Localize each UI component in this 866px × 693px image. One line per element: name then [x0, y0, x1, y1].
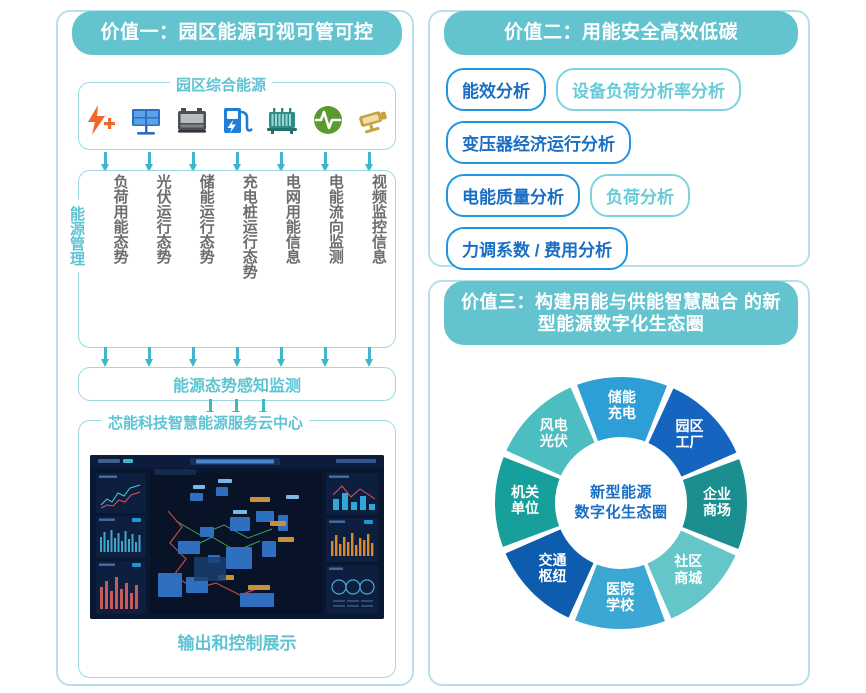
battery-icon	[175, 103, 209, 137]
comprehensive-energy-legend: 园区综合能源	[170, 74, 272, 95]
column-charging-pile: 充电桩运行态势	[241, 174, 257, 279]
down-arrow-icon	[233, 347, 242, 367]
down-arrow-icon	[365, 152, 374, 172]
perception-label: 能源态势感知监测	[78, 367, 396, 401]
arrow-row-icons-to-columns	[83, 152, 391, 172]
wheel-segment-label: 交通 枢纽	[527, 552, 579, 584]
panel-two-title: 价值二：用能安全高效低碳	[444, 11, 798, 55]
energy-icon-row	[78, 98, 396, 142]
wheel-segment-label: 储能 充电	[596, 389, 648, 421]
wheel-segment-label: 社区 商城	[662, 553, 714, 585]
ev-charger-icon	[220, 103, 254, 137]
panel-value-three: 价值三：构建用能与供能智慧融合 的新型能源数字化生态圈 新型能源 数字化生态圈 …	[428, 280, 810, 686]
column-storage-operation: 储能运行态势	[198, 174, 214, 264]
down-arrow-icon	[101, 347, 110, 367]
panel-three-title: 价值三：构建用能与供能智慧融合 的新型能源数字化生态圈	[444, 281, 798, 345]
tag-row: 能效分析 设备负荷分析率分析	[446, 68, 796, 111]
down-arrow-icon	[145, 152, 154, 172]
tag-power-quality[interactable]: 电能质量分析	[446, 174, 580, 217]
down-arrow-icon	[145, 347, 154, 367]
column-load-usage: 负荷用能态势	[112, 174, 128, 264]
down-arrow-icon	[277, 152, 286, 172]
column-power-flow: 电能流向监测	[327, 174, 343, 264]
panel-value-one: 价值一：园区能源可视可管可控 园区综合能源	[56, 10, 414, 686]
wheel-segment-label: 风电 光伏	[528, 417, 580, 449]
tag-equipment-load[interactable]: 设备负荷分析率分析	[556, 68, 741, 111]
panel-value-two: 价值二：用能安全高效低碳 能效分析 设备负荷分析率分析 变压器经济运行分析 电能…	[428, 10, 810, 267]
tag-row: 变压器经济运行分析	[446, 121, 796, 164]
energy-management-columns: 负荷用能态势 光伏运行态势 储能运行态势 充电桩运行态势 电网用能信息 电能流向…	[106, 174, 392, 346]
pulse-monitor-icon	[311, 103, 345, 137]
ecosystem-wheel: 新型能源 数字化生态圈 风电 光伏储能 充电园区 工厂企业 商场社区 商城医院 …	[492, 374, 750, 632]
down-arrow-icon	[189, 347, 198, 367]
wheel-segment-label: 机关 单位	[499, 484, 551, 516]
down-arrow-icon	[189, 152, 198, 172]
down-arrow-icon	[101, 152, 110, 172]
tag-transformer-economy[interactable]: 变压器经济运行分析	[446, 121, 631, 164]
infographic-root: 价值一：园区能源可视可管可控 园区综合能源	[0, 0, 866, 693]
cctv-camera-icon	[356, 103, 390, 137]
panel-one-title: 价值一：园区能源可视可管可控	[72, 11, 402, 55]
cloud-center-legend: 芯能科技智慧能源服务云中心	[102, 412, 309, 433]
dashboard-screenshot	[90, 455, 384, 619]
column-pv-operation: 光伏运行态势	[155, 174, 171, 264]
down-arrow-icon	[365, 347, 374, 367]
wheel-hub	[559, 441, 683, 565]
wheel-segment-label: 企业 商场	[691, 486, 743, 518]
down-arrow-icon	[233, 152, 242, 172]
down-arrow-icon	[321, 347, 330, 367]
energy-management-legend: 能源管理	[66, 200, 87, 272]
tag-row: 力调系数 / 费用分析	[446, 227, 796, 270]
analysis-tag-list: 能效分析 设备负荷分析率分析 变压器经济运行分析 电能质量分析 负荷分析 力调系…	[446, 68, 796, 280]
output-control-label: 输出和控制展示	[78, 624, 396, 658]
column-grid-usage: 电网用能信息	[284, 174, 300, 264]
wheel-segment-label: 医院 学校	[594, 581, 646, 613]
solar-panel-icon	[129, 103, 163, 137]
lightning-plus-icon	[84, 103, 118, 137]
tag-row: 电能质量分析 负荷分析	[446, 174, 796, 217]
transformer-icon	[265, 103, 299, 137]
wheel-segment-label: 园区 工厂	[663, 418, 715, 450]
tag-energy-efficiency[interactable]: 能效分析	[446, 68, 546, 111]
arrow-row-columns-to-perception	[83, 347, 391, 367]
down-arrow-icon	[321, 152, 330, 172]
tag-power-factor-fee[interactable]: 力调系数 / 费用分析	[446, 227, 628, 270]
tag-load-analysis[interactable]: 负荷分析	[590, 174, 690, 217]
down-arrow-icon	[277, 347, 286, 367]
column-video-monitor: 视频监控信息	[370, 174, 386, 264]
